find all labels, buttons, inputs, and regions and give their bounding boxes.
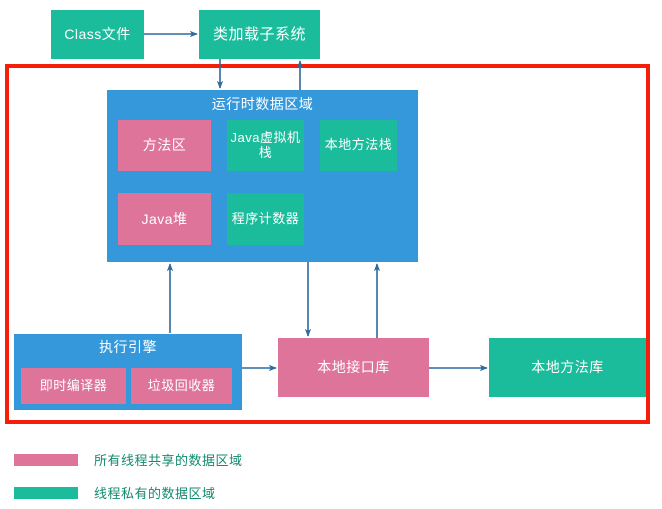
legend-item-shared: 所有线程共享的数据区域 (14, 443, 414, 476)
node-runtime-data-area-label: 运行时数据区域 (212, 96, 314, 112)
node-native-method-library-label: 本地方法库 (531, 359, 604, 375)
jvm-architecture-diagram: Class文件 类加载子系统 运行时数据区域 方法区 Java虚拟机栈 本地方法… (0, 0, 662, 506)
legend: 所有线程共享的数据区域 线程私有的数据区域 (14, 443, 414, 509)
node-garbage-collector[interactable]: 垃圾回收器 (131, 368, 232, 404)
node-native-method-stack[interactable]: 本地方法栈 (320, 120, 397, 171)
node-class-loader-subsystem-label: 类加载子系统 (213, 26, 306, 43)
legend-label-private: 线程私有的数据区域 (94, 483, 216, 502)
node-native-interface-library-label: 本地接口库 (317, 359, 390, 375)
legend-swatch-private-icon (14, 487, 78, 499)
node-class-loader-subsystem[interactable]: 类加载子系统 (199, 10, 320, 59)
node-jvm-stack[interactable]: Java虚拟机栈 (227, 120, 304, 171)
node-jit-compiler-label: 即时编译器 (40, 379, 108, 394)
node-native-interface-library[interactable]: 本地接口库 (278, 338, 429, 397)
node-method-area[interactable]: 方法区 (118, 120, 211, 171)
legend-label-shared: 所有线程共享的数据区域 (94, 450, 243, 469)
node-jvm-stack-label: Java虚拟机栈 (227, 131, 304, 161)
node-jit-compiler[interactable]: 即时编译器 (21, 368, 126, 404)
node-garbage-collector-label: 垃圾回收器 (148, 379, 216, 394)
legend-swatch-shared-icon (14, 454, 78, 466)
node-native-method-library[interactable]: 本地方法库 (489, 338, 646, 397)
node-pc-register-label: 程序计数器 (232, 212, 300, 227)
node-java-heap[interactable]: Java堆 (118, 193, 211, 245)
node-class-file[interactable]: Class文件 (51, 10, 144, 59)
node-pc-register[interactable]: 程序计数器 (227, 193, 304, 245)
node-native-method-stack-label: 本地方法栈 (325, 138, 393, 153)
legend-item-private: 线程私有的数据区域 (14, 476, 414, 509)
node-method-area-label: 方法区 (143, 137, 187, 153)
node-execution-engine-label: 执行引擎 (99, 339, 157, 355)
node-class-file-label: Class文件 (64, 26, 131, 42)
node-java-heap-label: Java堆 (141, 211, 187, 227)
